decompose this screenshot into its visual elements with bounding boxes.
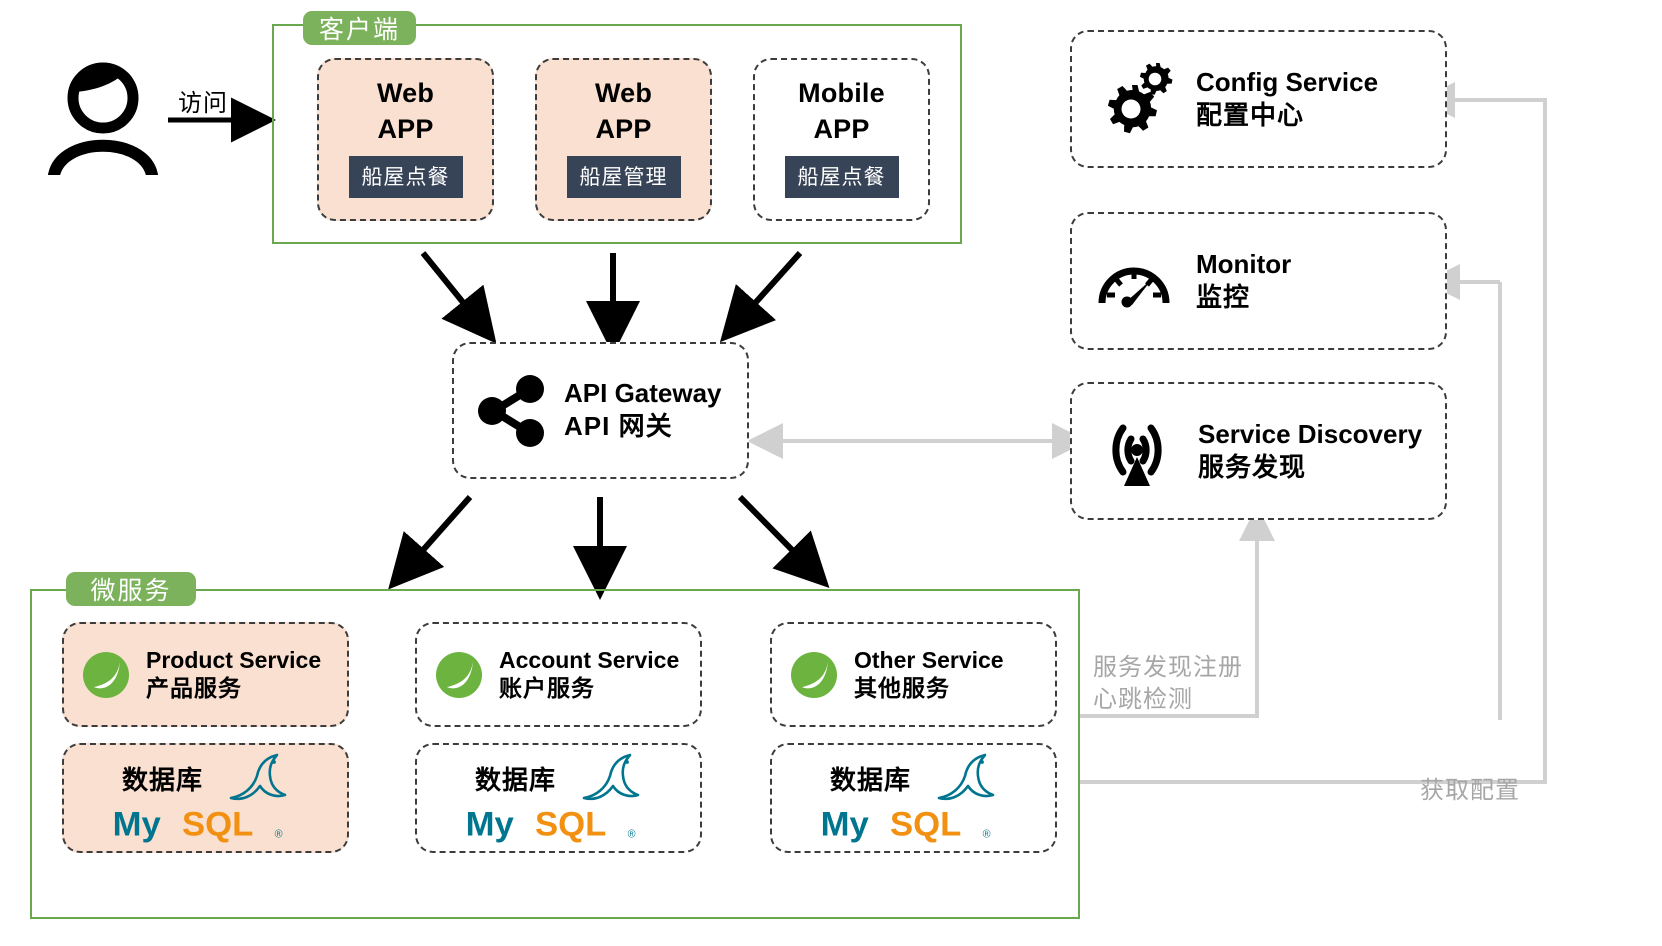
client-app-card[interactable]: Mobile APP 船屋点餐 <box>753 58 930 221</box>
database-label: 数据库 <box>475 760 556 797</box>
service-discovery-node[interactable]: Service Discovery 服务发现 <box>1070 382 1447 520</box>
svg-text:®: ® <box>982 828 990 840</box>
product-service-name-cn: 产品服务 <box>146 674 321 703</box>
other-service-name-cn: 其他服务 <box>854 674 1004 703</box>
database-label: 数据库 <box>122 760 203 797</box>
client-app-badge: 船屋点餐 <box>349 156 463 198</box>
spring-leaf-icon <box>435 651 483 699</box>
client-app-title-line1: Web <box>595 76 652 112</box>
account-service-name-cn: 账户服务 <box>499 674 679 703</box>
client-app-badge: 船屋点餐 <box>785 156 899 198</box>
monitor-node[interactable]: Monitor 监控 <box>1070 212 1447 350</box>
client-group-tag: 客户端 <box>303 11 416 45</box>
mysql-logo: My SQL ® <box>464 804 654 846</box>
database-node[interactable]: 数据库 My SQL ® <box>415 743 702 853</box>
mysql-dolphin-icon <box>927 750 997 806</box>
svg-text:SQL: SQL <box>535 806 606 844</box>
svg-text:®: ® <box>627 828 635 840</box>
monitor-name-en: Monitor <box>1196 249 1291 281</box>
client-app-title-line2: APP <box>377 112 433 148</box>
other-service-name-en: Other Service <box>854 646 1004 674</box>
api-gateway-node[interactable]: API Gateway API 网关 <box>452 342 749 479</box>
svg-text:My: My <box>465 806 514 844</box>
product-service-node[interactable]: Product Service 产品服务 <box>62 622 349 727</box>
share-network-icon <box>472 372 550 450</box>
api-gateway-name-en: API Gateway <box>564 378 722 410</box>
client-app-title-line1: Mobile <box>798 76 885 112</box>
account-service-node[interactable]: Account Service 账户服务 <box>415 622 702 727</box>
mysql-logo: My SQL ® <box>819 804 1009 846</box>
user-icon <box>40 40 165 175</box>
config-service-node[interactable]: Config Service 配置中心 <box>1070 30 1447 168</box>
broadcast-icon <box>1094 410 1180 492</box>
client-app-card[interactable]: Web APP 船屋点餐 <box>317 58 494 221</box>
client-app-title-line2: APP <box>813 112 869 148</box>
svg-text:®: ® <box>274 828 282 840</box>
config-service-name-cn: 配置中心 <box>1196 99 1378 132</box>
monitor-name-cn: 监控 <box>1196 281 1291 314</box>
service-discovery-name-en: Service Discovery <box>1198 419 1422 451</box>
svg-text:My: My <box>112 806 161 844</box>
registry-annotation: 服务发现注册 心跳检测 <box>1093 652 1243 715</box>
product-service-name-en: Product Service <box>146 646 321 674</box>
account-service-name-en: Account Service <box>499 646 679 674</box>
gears-icon <box>1094 59 1174 139</box>
client-app-card[interactable]: Web APP 船屋管理 <box>535 58 712 221</box>
config-fetch-annotation: 获取配置 <box>1420 775 1520 807</box>
service-discovery-name-cn: 服务发现 <box>1198 451 1422 484</box>
mysql-logo: My SQL ® <box>111 804 301 846</box>
mysql-dolphin-icon <box>572 750 642 806</box>
database-node[interactable]: 数据库 My SQL ® <box>770 743 1057 853</box>
other-service-node[interactable]: Other Service 其他服务 <box>770 622 1057 727</box>
access-label: 访问 <box>178 83 228 118</box>
config-service-name-en: Config Service <box>1196 67 1378 99</box>
client-app-badge: 船屋管理 <box>567 156 681 198</box>
client-app-title-line2: APP <box>595 112 651 148</box>
svg-text:SQL: SQL <box>890 806 961 844</box>
api-gateway-name-cn: API 网关 <box>564 410 722 443</box>
client-app-title-line1: Web <box>377 76 434 112</box>
mysql-dolphin-icon <box>219 750 289 806</box>
spring-leaf-icon <box>790 651 838 699</box>
spring-leaf-icon <box>82 651 130 699</box>
database-node[interactable]: 数据库 My SQL ® <box>62 743 349 853</box>
microservice-group-tag: 微服务 <box>66 572 196 606</box>
database-label: 数据库 <box>830 760 911 797</box>
gauge-icon <box>1094 241 1174 321</box>
diagram-canvas: 访问 客户端 Web APP 船屋点餐 Web APP 船屋管理 Mobile … <box>0 0 1662 946</box>
svg-text:My: My <box>820 806 869 844</box>
svg-text:SQL: SQL <box>182 806 253 844</box>
